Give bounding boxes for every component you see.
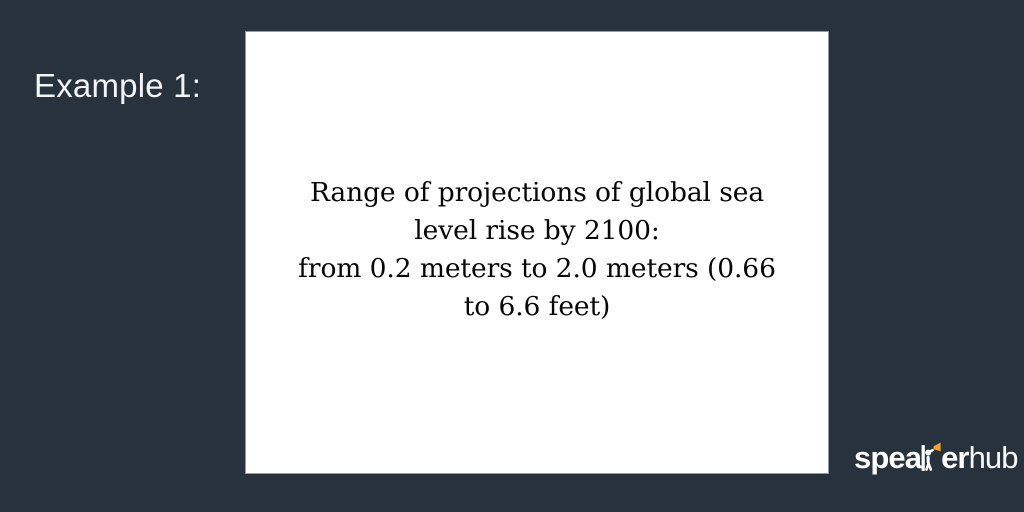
- card-text-line-3: from 0.2 meters to 2.0 meters (0.66: [287, 250, 787, 288]
- card-text-line-1: Range of projections of global sea: [287, 174, 787, 212]
- brand-text-hub: hub: [969, 441, 1018, 475]
- speaker-person-megaphone-icon: [921, 441, 941, 475]
- brand-text-suffix: er: [941, 441, 969, 475]
- card-text-block: Range of projections of global sea level…: [287, 174, 787, 326]
- speakerhub-logo: spea er hub: [854, 441, 1018, 475]
- content-card: Range of projections of global sea level…: [246, 32, 828, 473]
- brand-text-prefix: spea: [854, 441, 921, 475]
- slide-canvas: Example 1: Range of projections of globa…: [0, 0, 1024, 512]
- card-text-line-2: level rise by 2100:: [287, 212, 787, 250]
- page-title: Example 1:: [34, 66, 201, 106]
- card-text-line-4: to 6.6 feet): [287, 288, 787, 326]
